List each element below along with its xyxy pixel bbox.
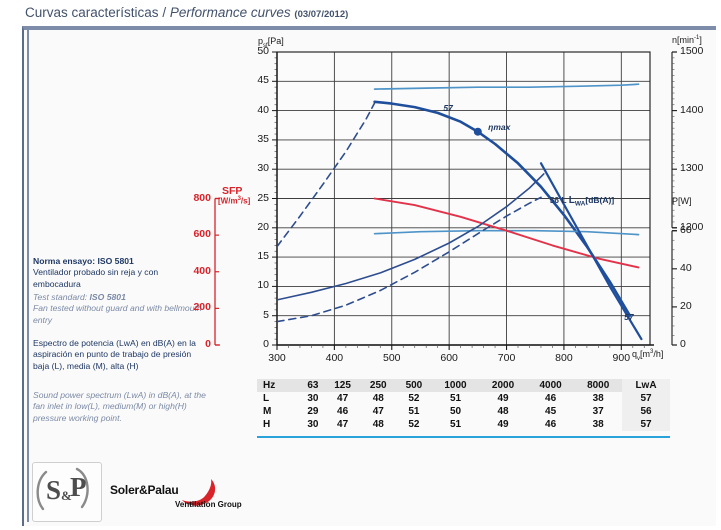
table-underline [257, 436, 670, 438]
table-col-250: 250 [360, 379, 396, 392]
table-cell: 47 [325, 418, 361, 431]
table-row: M294647515048453756 [257, 405, 670, 418]
xtick-400: 400 [312, 352, 356, 364]
xtick-600: 600 [427, 352, 471, 364]
test-standard-es-text: Ventilador probado sin reja y con emboca… [33, 267, 158, 288]
table-cell-lwa: 57 [622, 418, 670, 431]
svg-text:S: S [46, 475, 61, 505]
ytick-pressure-10: 10 [237, 279, 269, 291]
ytick-speed-1500: 1500 [680, 45, 703, 57]
table-cell: 49 [479, 392, 527, 405]
test-standard-en-text: Fan tested without guard and with bellmo… [33, 303, 202, 324]
table-row: L304748525149463857 [257, 392, 670, 405]
table-cell: 45 [527, 405, 575, 418]
table-cell: 52 [396, 392, 432, 405]
table-col-8000: 8000 [574, 379, 622, 392]
title-english: Performance curves [170, 5, 291, 20]
table-cell: 46 [527, 392, 575, 405]
xtick-800: 800 [542, 352, 586, 364]
ytick-power-60: 60 [680, 224, 692, 236]
ytick-pressure-35: 35 [237, 133, 269, 145]
ytick-power-20: 20 [680, 300, 692, 312]
ytick-pressure-50: 50 [237, 45, 269, 57]
table-cell: 52 [396, 418, 432, 431]
table-col-2000: 2000 [479, 379, 527, 392]
svg-text:P: P [70, 472, 87, 502]
table-cell: 51 [432, 392, 480, 405]
table-cell: 48 [360, 418, 396, 431]
chart-annotation-2: 56 L LWA[dB(A)] [550, 195, 615, 208]
table-row-label: M [257, 405, 301, 418]
ytick-pressure-5: 5 [237, 309, 269, 321]
brand-tagline: Ventilation Group [175, 500, 242, 509]
table-col-1000: 1000 [432, 379, 480, 392]
table-col-Hz: Hz [257, 379, 301, 392]
title-date: (03/07/2012) [294, 9, 348, 20]
table-cell: 37 [574, 405, 622, 418]
test-standard-en-label: Test standard: [33, 292, 87, 302]
table-cell: 49 [479, 418, 527, 431]
title-spanish: Curvas características [25, 5, 159, 20]
ytick-pressure-40: 40 [237, 104, 269, 116]
ytick-power-40: 40 [680, 262, 692, 274]
table-cell: 51 [432, 418, 480, 431]
table-col-4000: 4000 [527, 379, 575, 392]
ytick-pressure-0: 0 [237, 338, 269, 350]
table-cell: 46 [325, 405, 361, 418]
ytick-speed-1300: 1300 [680, 162, 703, 174]
xtick-900: 900 [599, 352, 643, 364]
ytick-sfp-600: 600 [179, 228, 211, 240]
table-cell: 51 [396, 405, 432, 418]
sound-spectrum-en: Sound power spectrum (LwA) in dB(A), at … [33, 390, 208, 424]
ytick-speed-1400: 1400 [680, 104, 703, 116]
table-cell: 47 [325, 392, 361, 405]
table-cell: 48 [479, 405, 527, 418]
table-cell: 29 [301, 405, 325, 418]
chart-annotation-0: 57 [443, 103, 452, 113]
logo-box: S & P [32, 462, 102, 522]
table-row-label: H [257, 418, 301, 431]
xtick-700: 700 [485, 352, 529, 364]
table-cell: 48 [360, 392, 396, 405]
sound-spectrum-table: Hz631252505001000200040008000LwA L304748… [257, 379, 670, 431]
title-separator: / [162, 5, 166, 20]
brand-name: Soler&Palau [110, 483, 179, 497]
ytick-sfp-800: 800 [179, 192, 211, 204]
ytick-pressure-20: 20 [237, 221, 269, 233]
table-col-500: 500 [396, 379, 432, 392]
table-cell: 30 [301, 418, 325, 431]
chart-annotation-1: ηmax [488, 122, 510, 132]
table-cell: 50 [432, 405, 480, 418]
ytick-pressure-30: 30 [237, 162, 269, 174]
test-standard-es-value: ISO 5801 [97, 256, 133, 266]
table-head: Hz631252505001000200040008000LwA [257, 379, 670, 392]
ytick-pressure-25: 25 [237, 192, 269, 204]
page-title: Curvas características / Performance cur… [25, 5, 348, 20]
ytick-pressure-45: 45 [237, 74, 269, 86]
table-cell-lwa: 57 [622, 392, 670, 405]
ytick-sfp-400: 400 [179, 265, 211, 277]
table-col-LwA: LwA [622, 379, 670, 392]
sp-logo-icon: S & P [33, 463, 101, 521]
chart-annotation-3: 57 [624, 312, 633, 322]
table-cell: 38 [574, 418, 622, 431]
table-cell-lwa: 56 [622, 405, 670, 418]
table-body: L304748525149463857M294647515048453756H3… [257, 392, 670, 431]
axis-title-speed: n[min-1] [672, 35, 702, 45]
table-cell: 47 [360, 405, 396, 418]
sidebar-divider [27, 30, 29, 522]
ytick-power-0: 0 [680, 338, 686, 350]
xtick-300: 300 [255, 352, 299, 364]
table-cell: 30 [301, 392, 325, 405]
axis-title-power: P[W] [672, 196, 692, 206]
table-row-label: L [257, 392, 301, 405]
test-standard-en-value: ISO 5801 [90, 292, 126, 302]
xtick-500: 500 [370, 352, 414, 364]
table-header-row: Hz631252505001000200040008000LwA [257, 379, 670, 392]
table-col-63: 63 [301, 379, 325, 392]
ytick-sfp-0: 0 [179, 338, 211, 350]
table-col-125: 125 [325, 379, 361, 392]
ytick-pressure-15: 15 [237, 250, 269, 262]
test-standard-es-label: Norma ensayo: [33, 256, 95, 266]
ytick-sfp-200: 200 [179, 301, 211, 313]
table-cell: 46 [527, 418, 575, 431]
table-row: H304748525149463857 [257, 418, 670, 431]
table-cell: 38 [574, 392, 622, 405]
